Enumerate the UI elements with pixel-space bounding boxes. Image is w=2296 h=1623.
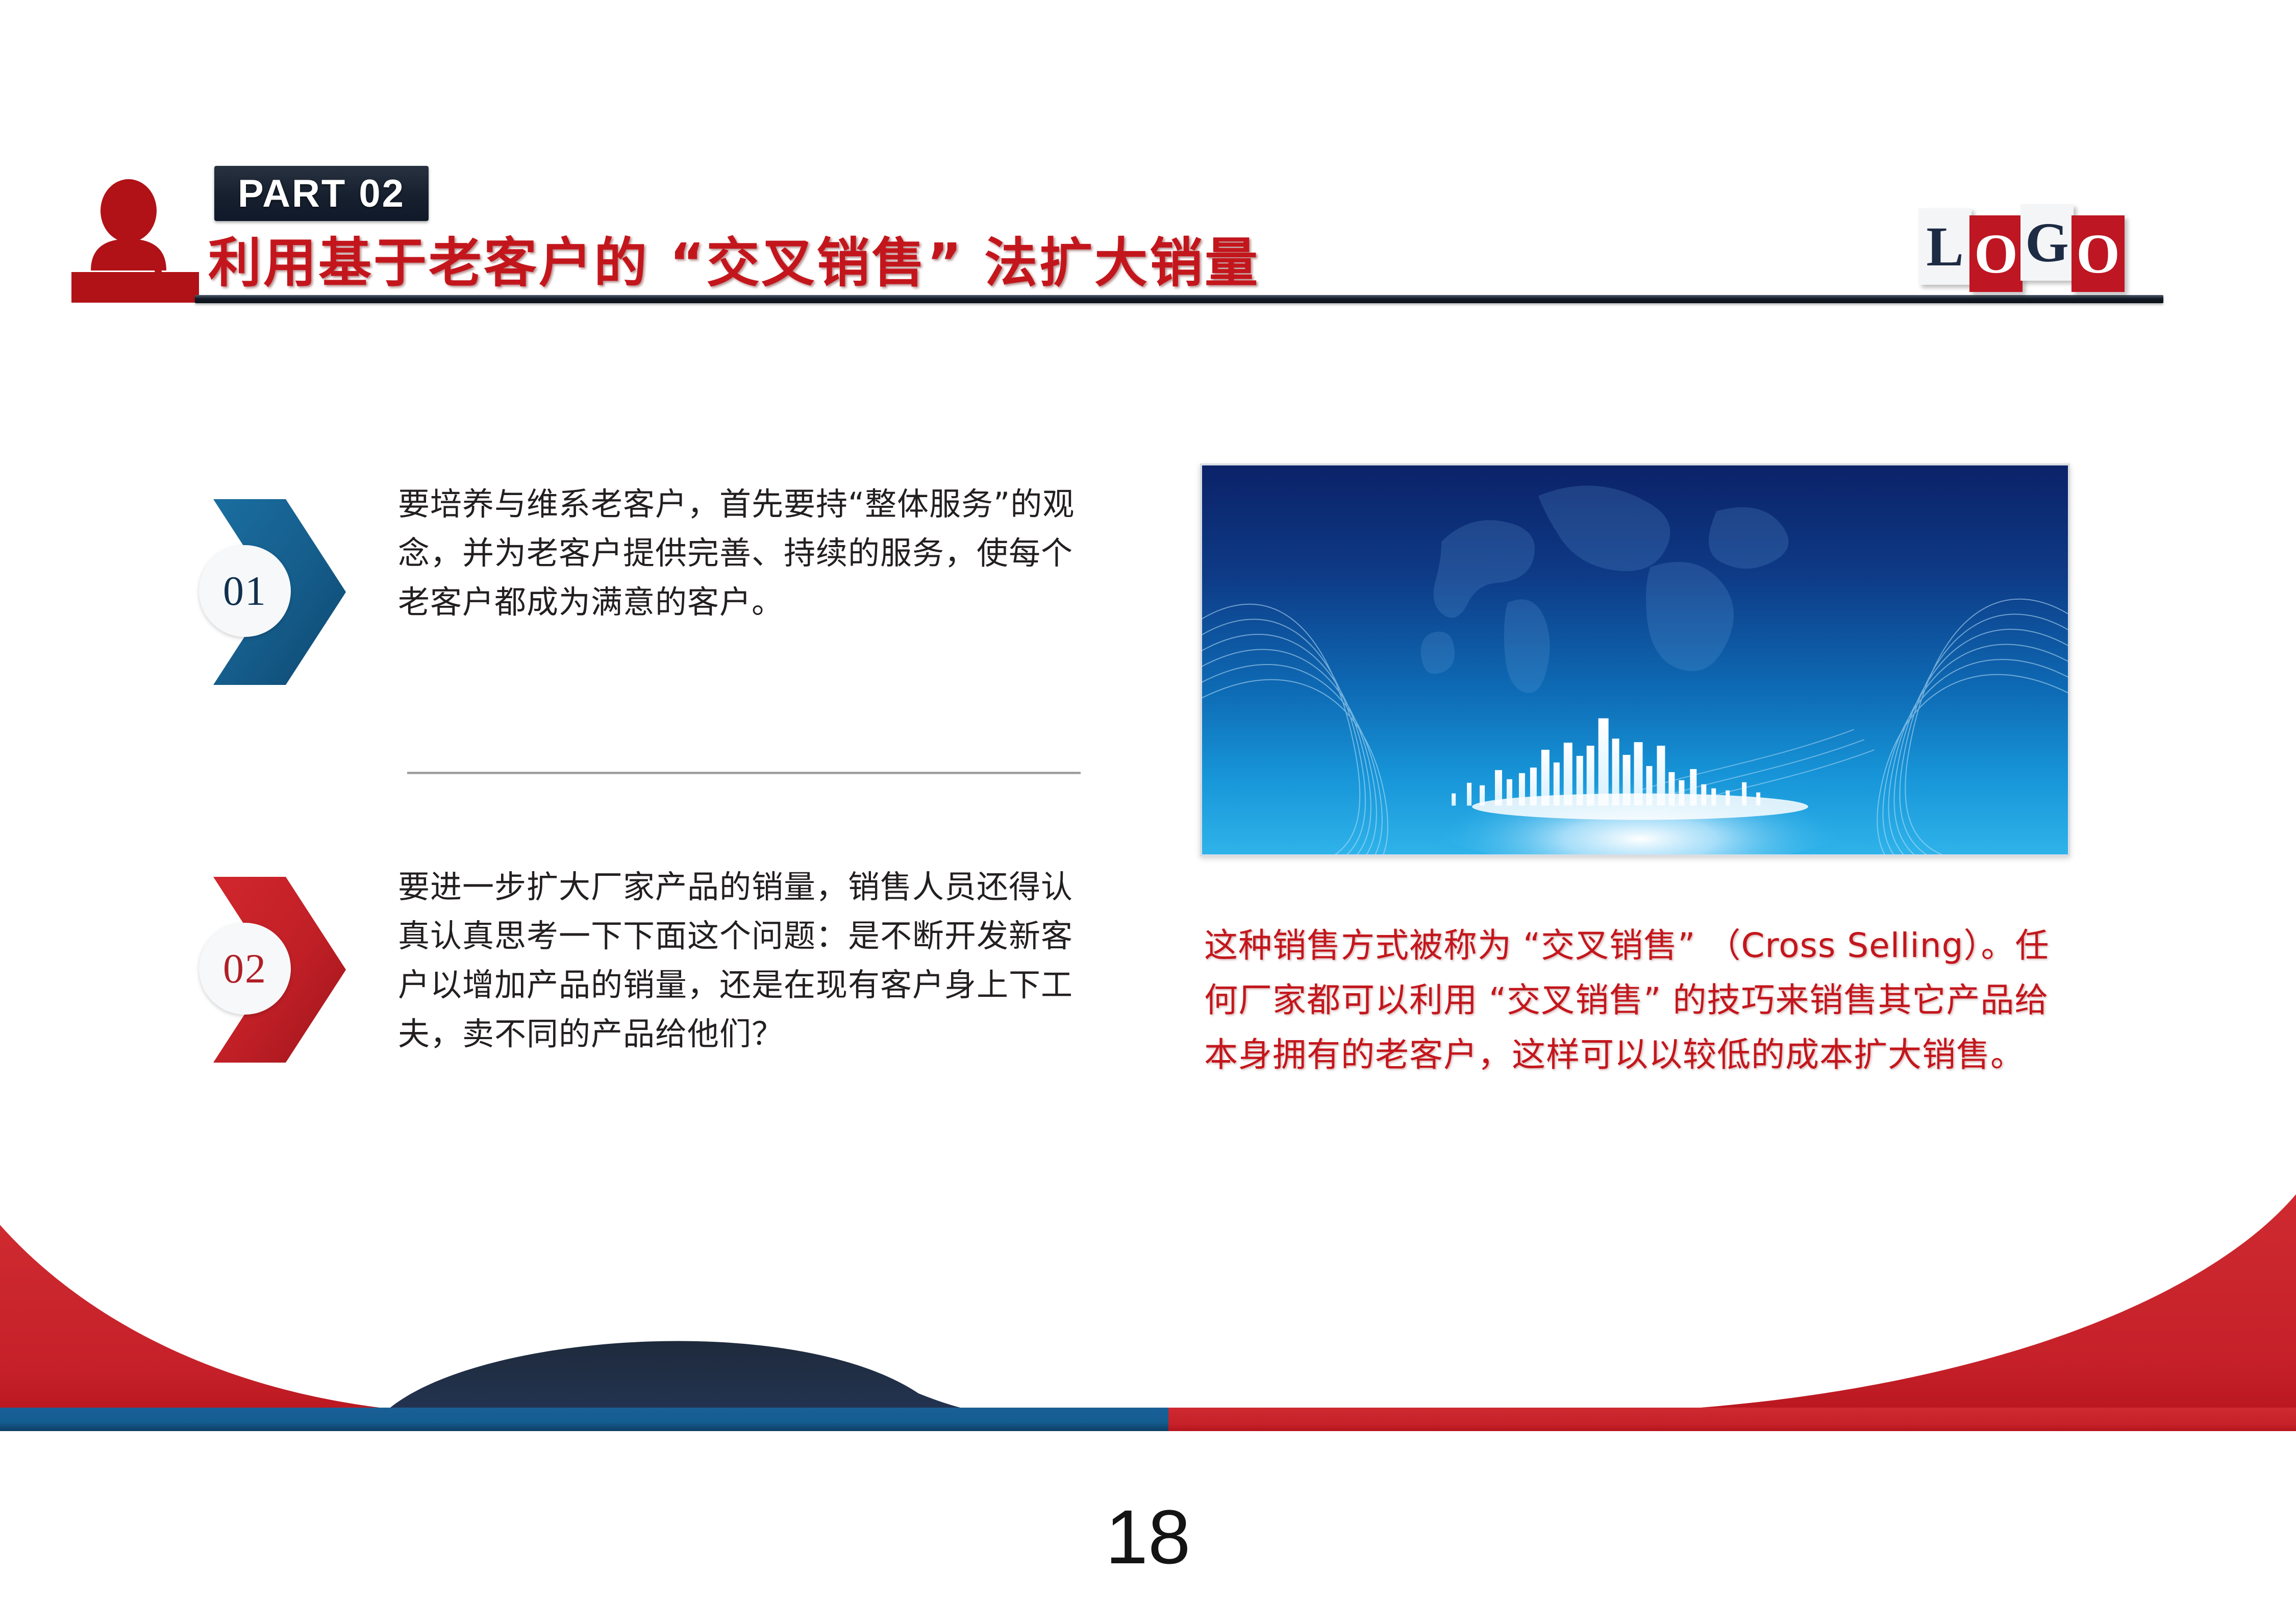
logo-letter-4: O <box>2072 215 2125 292</box>
list-item-text-01: 要培养与维系老客户，首先要持“整体服务”的观念，并为老客户提供完善、持续的服务，… <box>398 480 1077 627</box>
content-divider <box>407 772 1081 774</box>
slide-header: PART 02 利用基于老客户的 “交叉销售” 法扩大销量 L O G O <box>0 0 2296 337</box>
logo-letter-3: G <box>2020 204 2074 281</box>
page-number: 18 <box>0 1493 2296 1581</box>
page-title: 利用基于老客户的 “交叉销售” 法扩大销量 <box>208 219 1260 297</box>
logo-letter-1: L <box>1918 208 1971 285</box>
highlight-paragraph: 这种销售方式被称为 “交叉销售” （Cross Selling）。任何厂家都可以… <box>1204 919 2082 1083</box>
logo: L O G O <box>1918 204 2143 291</box>
logo-letter-2: O <box>1969 215 2023 292</box>
speaker-podium-icon <box>71 176 199 306</box>
part-badge: PART 02 <box>214 166 429 221</box>
list-item-text-02: 要进一步扩大厂家产品的销量，销售人员还得认真认真思考一下下面这个问题：是不断开发… <box>398 863 1077 1059</box>
header-divider <box>195 295 2163 303</box>
slide-root: PART 02 利用基于老客户的 “交叉销售” 法扩大销量 L O G O <box>0 0 2296 1623</box>
illustration-image <box>1200 463 2070 856</box>
chevron-number-01: 01 <box>199 545 291 637</box>
chevron-number-02: 02 <box>199 923 291 1015</box>
bottom-decoration <box>0 1189 2296 1475</box>
left-content-column: 01 要培养与维系老客户，首先要持“整体服务”的观念，并为老客户提供完善、持续的… <box>194 459 1092 1199</box>
part-badge-label: PART 02 <box>238 171 405 216</box>
